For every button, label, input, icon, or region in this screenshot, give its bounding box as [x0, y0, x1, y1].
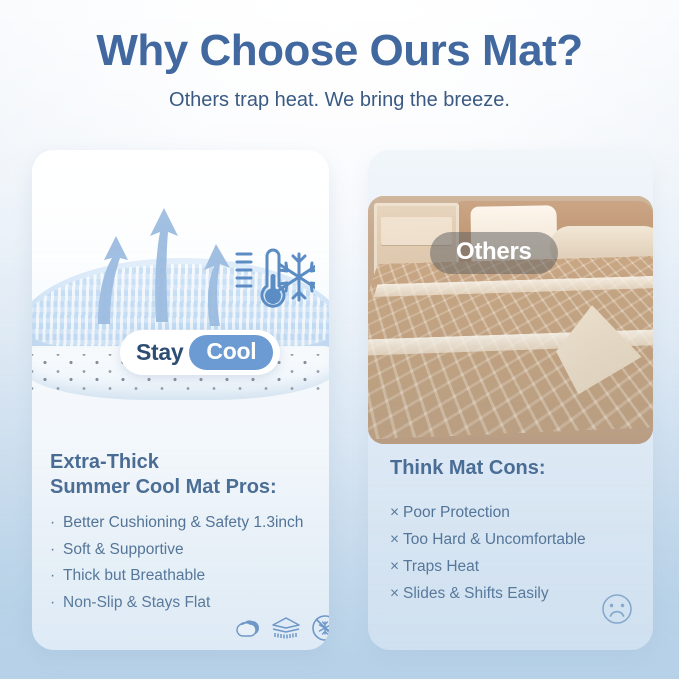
- pros-heading: Extra-Thick Summer Cool Mat Pros:: [50, 450, 318, 500]
- pros-item-label: Better Cushioning & Safety 1.3inch: [63, 514, 303, 531]
- cons-item-label: Traps Heat: [403, 558, 479, 575]
- cons-item-label: Too Hard & Uncomfortable: [403, 531, 586, 548]
- pros-heading-line1: Extra-Thick: [50, 450, 318, 475]
- bullet-marker: ·: [50, 510, 63, 537]
- photo-mat-stripe: [374, 276, 653, 297]
- list-item: ×Poor Protection: [390, 499, 642, 526]
- ordinary-mat-photo: Others: [368, 196, 653, 444]
- pros-heading-line2: Summer Cool Mat Pros:: [50, 475, 318, 500]
- cross-marker: ×: [390, 553, 403, 580]
- pros-card: Stay Cool Extra-Thick Summer Cool Mat Pr…: [32, 150, 329, 650]
- list-item: ·Better Cushioning & Safety 1.3inch: [50, 510, 318, 537]
- bullet-marker: ·: [50, 590, 63, 617]
- airflow-arrows-icon: [84, 206, 244, 331]
- cons-heading: Think Mat Cons:: [390, 456, 642, 481]
- cloud-icon: [232, 613, 262, 643]
- comparison-infographic: Why Choose Ours Mat? Others trap heat. W…: [0, 0, 679, 679]
- badge-word-cool: Cool: [189, 335, 273, 370]
- thermometer-snowflake-icon: [229, 246, 315, 312]
- pros-text-block: Extra-Thick Summer Cool Mat Pros: ·Bette…: [50, 450, 318, 616]
- layered-breathable-mat-icon: [271, 613, 301, 643]
- sad-face-wrap: [599, 591, 635, 632]
- cons-text-block: Think Mat Cons: ×Poor Protection ×Too Ha…: [390, 456, 642, 607]
- pros-item-label: Non-Slip & Stays Flat: [63, 594, 210, 611]
- sad-face-icon: [599, 591, 635, 627]
- page-subtitle: Others trap heat. We bring the breeze.: [0, 88, 679, 112]
- cons-item-label: Poor Protection: [403, 504, 510, 521]
- list-item: ×Too Hard & Uncomfortable: [390, 526, 642, 553]
- feature-icon-row: [232, 613, 329, 643]
- cross-marker: ×: [390, 580, 403, 607]
- list-item: ×Traps Heat: [390, 553, 642, 580]
- pros-item-label: Thick but Breathable: [63, 567, 205, 584]
- bullet-marker: ·: [50, 563, 63, 590]
- cross-marker: ×: [390, 499, 403, 526]
- cons-card: Others Think Mat Cons: ×Poor Protection …: [368, 150, 653, 650]
- list-item: ·Soft & Supportive: [50, 537, 318, 564]
- bullet-marker: ·: [50, 537, 63, 564]
- pros-item-label: Soft & Supportive: [63, 541, 184, 558]
- cross-marker: ×: [390, 526, 403, 553]
- cons-item-label: Slides & Shifts Easily: [403, 585, 549, 602]
- page-title: Why Choose Ours Mat?: [0, 26, 679, 76]
- header: Why Choose Ours Mat? Others trap heat. W…: [0, 26, 679, 112]
- badge-word-stay: Stay: [136, 339, 183, 366]
- cool-mat-illustration: Stay Cool: [32, 150, 329, 442]
- stay-cool-badge: Stay Cool: [120, 330, 280, 375]
- list-item: ·Thick but Breathable: [50, 563, 318, 590]
- others-badge: Others: [430, 232, 558, 274]
- pros-list: ·Better Cushioning & Safety 1.3inch ·Sof…: [50, 510, 318, 616]
- anti-mite-no-bug-icon: [310, 613, 329, 643]
